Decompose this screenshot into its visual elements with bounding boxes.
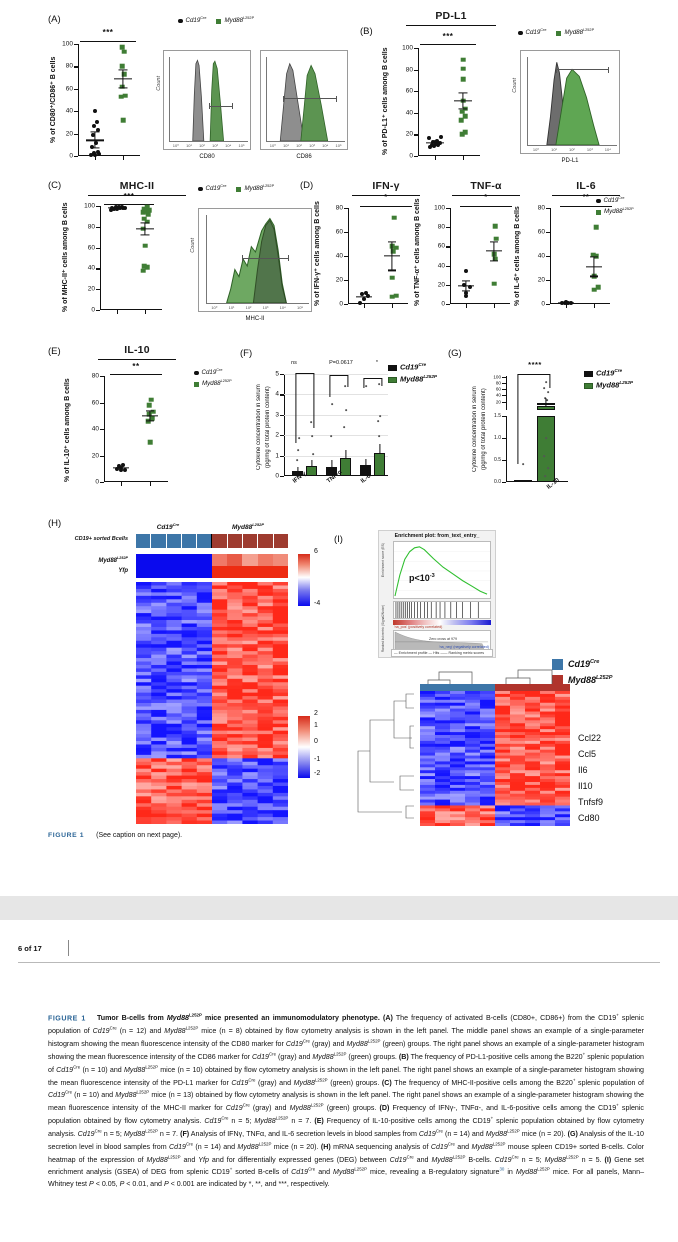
- gsea-ylabel-top: Enrichment score (ES): [381, 543, 385, 577]
- panel-d2-significance: *: [452, 194, 520, 201]
- panel-g-legend: Cd19Cre Myd88L252P: [584, 368, 633, 393]
- panel-c-legend: Cd19Cre Myd88L252P: [198, 184, 274, 195]
- figure-note-tag: FIGURE 1: [48, 832, 84, 839]
- panel-g-bars-lower: 1.5 1.0 0.5 0.0: [506, 416, 568, 482]
- panel-i-gsea-plot: Enrichment plot: from_text_entry_ p<10-3: [378, 530, 496, 658]
- panel-i-heatmap-body: [420, 691, 570, 826]
- panel-b: PD-L1 (B) Cd19Cre Myd88L252P *** % of PD…: [360, 10, 660, 175]
- panel-b-title: PD-L1: [396, 10, 506, 22]
- panel-a-significance: ***: [68, 28, 148, 37]
- panel-b-letter: (B): [360, 26, 373, 37]
- panel-a-letter: (A): [48, 14, 61, 25]
- figure-1-graphic: (A) Cd19Cre Myd88L252P *** % of CD80⁺/CD…: [0, 0, 678, 880]
- header-rule: [18, 962, 660, 963]
- panel-c-significance: ***: [94, 192, 164, 201]
- panel-d3-scatter: 80 60 40 20 0: [550, 208, 610, 304]
- panel-i: (I) Enrichment plot: from_text_entry_ p<…: [334, 518, 660, 828]
- folio-divider: [68, 940, 69, 956]
- panel-h-colorbar-b-t1: 1: [314, 722, 318, 729]
- panel-e-title: IL-10: [92, 344, 182, 356]
- panel-d3-ylabel: % of IL-6⁺ cells among B cells: [514, 206, 534, 306]
- panel-b-significance: ***: [408, 32, 488, 41]
- panel-i-row-dendrogram: [354, 686, 420, 826]
- panel-b-hist-ylabel: Count: [512, 78, 518, 93]
- x-axis: [78, 155, 140, 156]
- panel-e-ylabel: % of IL-10⁺ cells among B cells: [64, 376, 84, 484]
- legend-mut-label: Myd88L252P: [224, 16, 254, 26]
- caption-figure-tag: FIGURE 1: [48, 1014, 86, 1022]
- panel-g-significance: ****: [506, 360, 564, 369]
- panel-a-sig-line: [80, 41, 136, 42]
- gene-label-ccl5: Ccl5: [578, 749, 596, 759]
- panel-a-cd80-ylabel: Count: [156, 76, 162, 91]
- panel-h-colorbar-b-tm2: -2: [314, 770, 320, 777]
- panel-h-colorbar-top-max: 6: [314, 548, 318, 555]
- gene-label-il10: Il10: [578, 781, 593, 791]
- panel-h-annotation-row-myd88: [136, 554, 288, 566]
- panel-d-letter: (D): [300, 180, 313, 191]
- panel-d3-title: IL-6: [546, 180, 626, 192]
- figure-note-text: (See caption on next page).: [96, 832, 182, 839]
- panel-f: (F) Cd19Cre Myd88L252P ns P=0.0617 * Cyt…: [240, 346, 440, 511]
- panel-f-legend: Cd19Cre Myd88L252P: [388, 362, 437, 387]
- panel-h-annotation-row-yfp: [136, 566, 288, 578]
- gsea-zero-cross: Zero cross at 979: [429, 637, 457, 641]
- panel-c-letter: (C): [48, 180, 61, 191]
- panel-d1-scatter: 80 60 40 20 0: [348, 208, 408, 304]
- panel-h-group-right-label: Myd88L252P: [208, 522, 288, 531]
- figure-note: FIGURE 1 (See caption on next page).: [48, 832, 182, 839]
- legend-dot-icon: [178, 19, 183, 24]
- panel-f-annotation-1: ns: [274, 360, 314, 366]
- panel-e-scatter: 80 60 40 20 0: [104, 376, 168, 482]
- panel-c-title: MHC-II: [82, 180, 192, 192]
- panel-h-colorbar-top-min: -4: [314, 600, 320, 607]
- panel-h-colorbar-b-tm1: -1: [314, 756, 320, 763]
- panel-a: (A) Cd19Cre Myd88L252P *** % of CD80⁺/CD…: [48, 14, 348, 174]
- panel-d: (D) Cd19Cre Myd88L252P IFN-γ * % of IFN-…: [300, 180, 660, 335]
- caption-title: Tumor B-cells from Myd88L252P mice prese…: [97, 1014, 380, 1022]
- panel-h-colorbar-bottom: [298, 716, 310, 778]
- panel-b-legend: Cd19Cre Myd88L252P: [518, 28, 594, 39]
- panel-h-colorbar-b-t0: 0: [314, 738, 318, 745]
- panel-h-letter: (H): [48, 518, 61, 529]
- panel-e-letter: (E): [48, 346, 61, 357]
- panel-h: (H) Cd19Cre Myd88L252P CD19+ sorted Bcel…: [48, 518, 333, 828]
- figure-page: (A) Cd19Cre Myd88L252P *** % of CD80⁺/CD…: [0, 0, 678, 1242]
- panel-i-group-strip: [420, 684, 570, 691]
- gsea-title: Enrichment plot: from_text_entry_: [379, 533, 495, 539]
- figure-caption: FIGURE 1 Tumor B-cells from Myd88L252P m…: [48, 1012, 644, 1190]
- panel-a-cd86-xlabel: CD86: [260, 154, 348, 160]
- legend-square-icon: [216, 19, 221, 24]
- panel-c-hist-ylabel: Count: [190, 238, 196, 253]
- panel-h-heatmap-body: [136, 582, 288, 824]
- panel-d2-ylabel: % of TNF-α⁺ cells among B cells: [414, 206, 434, 306]
- panel-d3-significance: **: [552, 194, 620, 201]
- panel-i-letter: (I): [334, 534, 343, 545]
- panel-d2-scatter: 100 80 60 40 20 0: [450, 208, 510, 304]
- y-axis: [78, 44, 79, 156]
- panel-d2-title: TNF-α: [446, 180, 526, 192]
- panel-g: (G) Cd19Cre Myd88L252P **** Cytokine con…: [448, 346, 660, 511]
- panel-b-scatter: 100 80 60 40 20 0: [418, 48, 480, 156]
- panel-a-scatter: 100 80 60 40 20 0: [78, 44, 140, 156]
- legend-ctrl-label: Cd19Cre: [186, 16, 207, 26]
- panel-d1-title: IFN-γ: [346, 180, 426, 192]
- panel-a-cd80-histogram: 10⁰10¹10²10³10⁴10⁵: [163, 50, 251, 150]
- panel-h-toprow-label: CD19+ sorted Bcells: [48, 536, 128, 542]
- panel-f-ylabel-line2: (pg/mg of total protein content): [265, 374, 276, 480]
- panel-a-legend: Cd19Cre Myd88L252P: [178, 16, 254, 27]
- panel-a-ylabel: % of CD80⁺/CD86⁺ B cells: [50, 40, 60, 160]
- panel-a-cd86-histogram: 10⁰10¹10²10³10⁴10⁵: [260, 50, 348, 150]
- panel-d1-ylabel: % of IFN-γ⁺ cells among B cells: [314, 206, 334, 306]
- gsea-ylabel-bottom: Ranked list metric (Signal2Noise): [381, 605, 385, 652]
- panel-g-letter: (G): [448, 348, 462, 359]
- panel-h-row-label-myd88: Myd88L252P: [58, 556, 128, 564]
- gene-label-il6: Il6: [578, 765, 588, 775]
- panel-h-group-strip: [136, 534, 288, 548]
- panel-d1-significance: *: [352, 194, 420, 201]
- panel-c-mhcii-histogram: 10⁰10¹10²10³10⁴10⁵: [198, 208, 312, 312]
- panel-h-row-label-yfp: Yfp: [58, 568, 128, 574]
- gene-label-cd80: Cd80: [578, 813, 600, 823]
- panel-c-ylabel: % of MHC-II⁺ cells among B cells: [62, 206, 84, 312]
- page-folio: 6 of 17: [18, 944, 42, 953]
- panel-f-bars: 5 4 3 2 1 0: [284, 374, 388, 476]
- gene-label-ccl22: Ccl22: [578, 733, 601, 743]
- page-separator-band: [0, 896, 678, 920]
- panel-g-bars-upper: 100 80 60 40 20: [506, 376, 568, 410]
- panel-a-cd80-xlabel: CD80: [163, 154, 251, 160]
- panel-h-group-left-label: Cd19Cre: [133, 522, 203, 531]
- panel-b-hist-xlabel: PD-L1: [520, 158, 620, 164]
- panel-f-annotation-3: *: [362, 360, 392, 366]
- panel-b-ylabel: % of PD-L1⁺ cells among B cells: [382, 46, 404, 156]
- panel-e-significance: **: [100, 362, 172, 371]
- panel-e-legend: Cd19Cre Myd88L252P: [194, 368, 232, 390]
- panel-f-letter: (F): [240, 348, 252, 359]
- panel-g-ylabel-line2: (pg/mg of total protein content): [481, 376, 492, 482]
- caption-body: (A) The frequency of activated B-cells (…: [48, 1014, 644, 1188]
- gsea-pvalue: p<10-3: [409, 573, 435, 583]
- gsea-footer: — Enrichment profile — Hits —— Ranking m…: [394, 651, 484, 655]
- gene-label-tnfsf9: Tnfsf9: [578, 797, 603, 807]
- panel-h-colorbar-b-t2: 2: [314, 710, 318, 717]
- gsea-note-pos: 'na_pos' (positively correlated): [394, 625, 442, 629]
- panel-c-hist-xlabel: MHC-II: [198, 316, 312, 322]
- panel-c-scatter: 100 80 60 40 20 0: [100, 206, 162, 310]
- panel-b-pdl1-histogram: 10⁰10¹10²10³10⁴: [520, 50, 620, 154]
- panel-h-colorbar-top: [298, 554, 310, 606]
